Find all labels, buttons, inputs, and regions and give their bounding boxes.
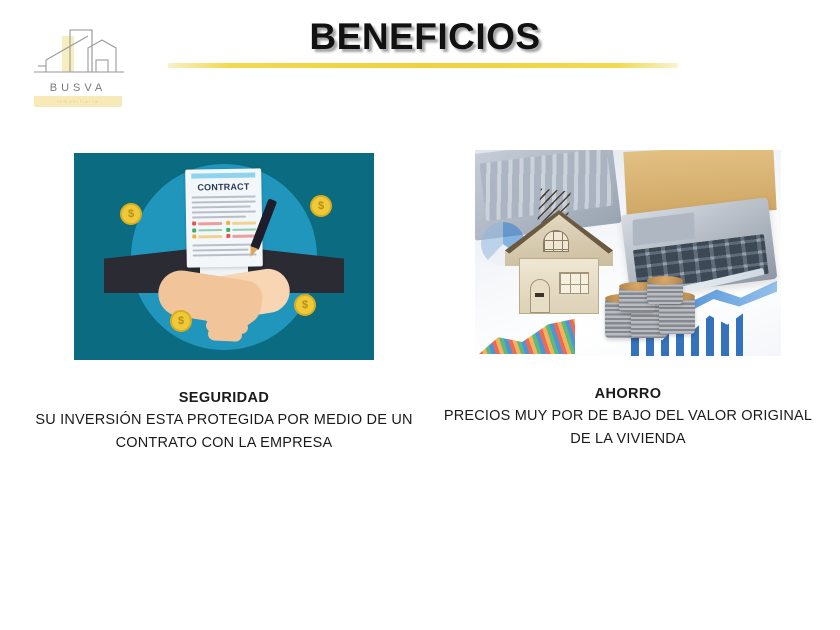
coin-icon-1: $: [120, 203, 142, 225]
house-door-panel: [535, 293, 544, 297]
document-title: CONTRACT: [191, 181, 255, 192]
house-gable-window: [543, 230, 569, 252]
coin-icon-2: $: [310, 195, 332, 217]
benefit-description: SU INVERSIÓN ESTA PROTEGIDA POR MEDIO DE…: [24, 409, 424, 455]
page-title: BENEFICIOS: [170, 16, 680, 58]
company-logo: BUSVA inmobiliaria: [26, 26, 130, 108]
wooden-model-house: [505, 196, 613, 316]
photo-canvas: [475, 150, 781, 356]
buildings-outline-icon: [26, 26, 130, 84]
logo-tagline: inmobiliaria: [34, 96, 122, 107]
contract-document: CONTRACT: [185, 168, 263, 267]
coin-icon-3: $: [170, 310, 192, 332]
document-header-bar: [191, 172, 255, 178]
logo-wordmark: BUSVA: [26, 82, 130, 94]
house-body: [519, 258, 599, 314]
illustration-canvas: CONTRACT: [74, 153, 374, 360]
slide: BUSVA inmobiliaria BENEFICIOS: [0, 0, 840, 630]
document-checkbox-rows: [192, 221, 256, 242]
benefit-card-seguridad: CONTRACT: [24, 150, 424, 455]
handshake-icon: [158, 271, 290, 343]
benefit-caption-seguridad: SEGURIDAD SU INVERSIÓN ESTA PROTEGIDA PO…: [24, 388, 424, 455]
document-text-lines: [192, 195, 256, 218]
benefit-caption-ahorro: AHORRO PRECIOS MUY POR DE BAJO DEL VALOR…: [440, 384, 816, 451]
model-house-coins-calculator-photo: [475, 150, 781, 356]
coin-stack-5: [647, 280, 683, 304]
benefit-title: AHORRO: [440, 384, 816, 405]
coin-icon-4: $: [294, 294, 316, 316]
benefit-card-ahorro: AHORRO PRECIOS MUY POR DE BAJO DEL VALOR…: [440, 150, 816, 451]
benefit-description: PRECIOS MUY POR DE BAJO DEL VALOR ORIGIN…: [440, 405, 816, 451]
handshake-contract-illustration: CONTRACT: [74, 153, 374, 360]
calculator-screen: [633, 212, 695, 246]
title-underline-rule: [168, 63, 678, 68]
benefit-title: SEGURIDAD: [24, 388, 424, 409]
house-door: [530, 279, 550, 313]
house-window: [559, 272, 589, 294]
